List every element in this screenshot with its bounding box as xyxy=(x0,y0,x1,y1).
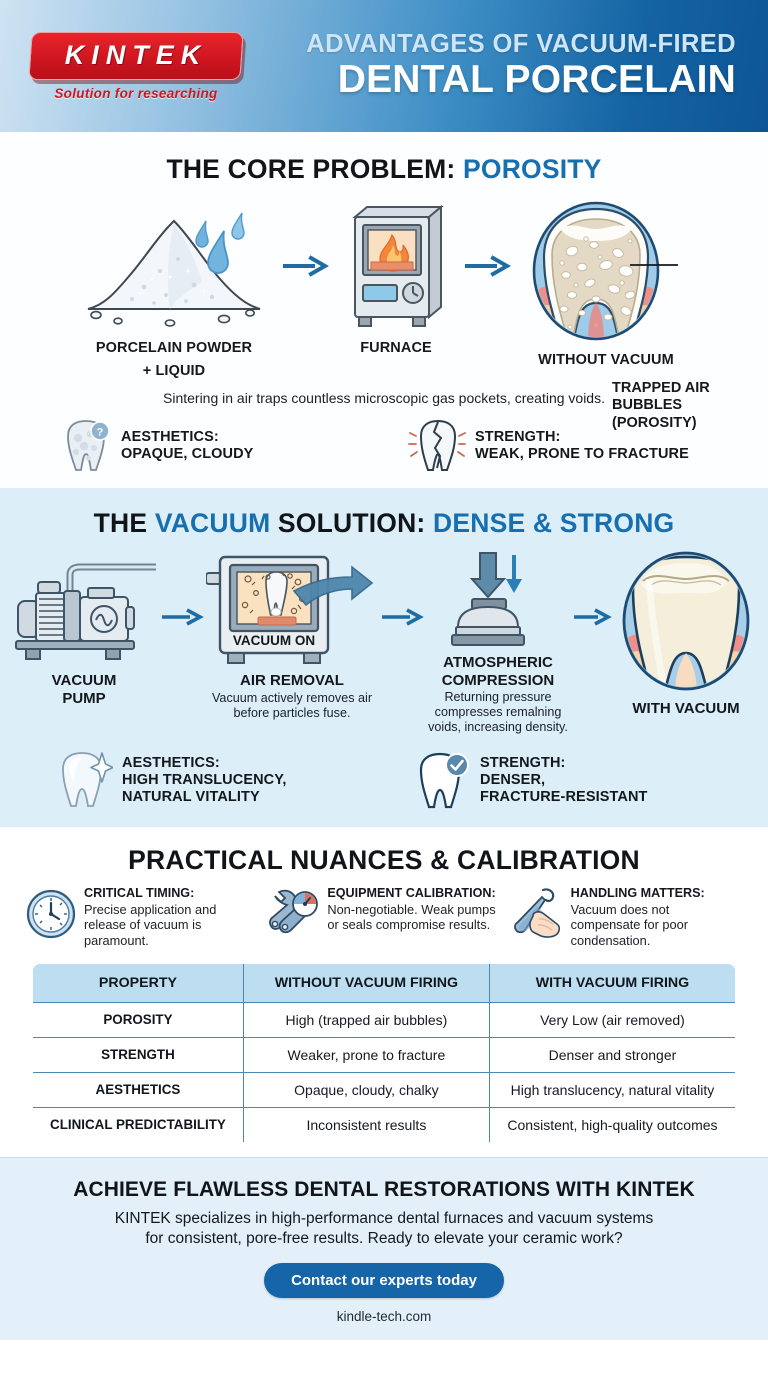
vacuum-title-part3: SOLUTION: xyxy=(270,508,433,538)
benefit-body-2: NATURAL VITALITY xyxy=(122,789,287,806)
vacuum-caption-compression-2: COMPRESSION xyxy=(426,672,570,689)
problem-benefit-strength-text: STRENGTH: WEAK, PRONE TO FRACTURE xyxy=(475,429,689,463)
table-cell-without: Weaker, prone to fracture xyxy=(243,1037,489,1072)
table-cell-without: High (trapped air bubbles) xyxy=(243,1002,489,1037)
table-cell-with: Consistent, high-quality outcomes xyxy=(489,1107,735,1142)
vacuum-flow: VACUUM PUMP xyxy=(0,549,768,735)
table-body: POROSITY High (trapped air bubbles) Very… xyxy=(33,1002,736,1142)
vacuum-title-part2: VACUUM xyxy=(155,508,271,538)
nuance-tile-handling-text: HANDLING MATTERS: Vacuum does not compen… xyxy=(571,886,742,948)
comparison-table-wrap: PROPERTY WITHOUT VACUUM FIRING WITH VACU… xyxy=(0,963,768,1143)
logo-tagline: Solution for researching xyxy=(30,86,242,101)
cta-title: ACHIEVE FLAWLESS DENTAL RESTORATIONS WIT… xyxy=(0,1178,768,1202)
table-row: CLINICAL PREDICTABILITY Inconsistent res… xyxy=(33,1107,736,1142)
vacuum-title-part4: DENSE & STRONG xyxy=(433,508,674,538)
section-core-problem: THE CORE PROBLEM: POROSITY xyxy=(0,132,768,488)
flow-step-furnace: FURNACE xyxy=(331,199,461,357)
nuance-tiles: CRITICAL TIMING: Precise application and… xyxy=(0,886,768,948)
vacuum-sub-compression: Returning pressure compresses remalning … xyxy=(426,690,570,735)
kintek-logo[interactable]: KINTEK Solution for researching xyxy=(30,32,242,101)
vacuum-caption-air-removal: AIR REMOVAL xyxy=(206,672,378,689)
vacuum-caption-with-vacuum: WITH VACUUM xyxy=(614,700,758,717)
porous-tooth-icon xyxy=(526,199,686,351)
table-cell-with: Denser and stronger xyxy=(489,1037,735,1072)
flow-step-powder: PORCELAIN POWDER + LIQUID xyxy=(69,199,279,380)
arrow-furnace-to-tooth xyxy=(463,199,511,282)
vacuum-benefit-strength: STRENGTH: DENSER, FRACTURE-RESISTANT xyxy=(413,749,713,811)
wrench-gauge-icon xyxy=(269,886,319,942)
chamber-label: VACUUM ON xyxy=(233,633,315,648)
infographic-page: KINTEK Solution for researching ADVANTAG… xyxy=(0,0,768,1376)
contact-experts-button[interactable]: Contact our experts today xyxy=(264,1263,504,1298)
flow-step-with-vacuum: WITH VACUUM xyxy=(614,549,758,717)
check-tooth-icon xyxy=(413,749,471,811)
table-cell-with: High translucency, natural vitality xyxy=(489,1072,735,1107)
section-title-problem-plain: THE CORE PROBLEM: xyxy=(166,154,463,184)
tile-head: CRITICAL TIMING: xyxy=(84,886,255,901)
table-cell-without: Inconsistent results xyxy=(243,1107,489,1142)
atmospheric-press-icon xyxy=(438,549,558,649)
table-cell-property: STRENGTH xyxy=(33,1037,244,1072)
benefit-head: AESTHETICS: xyxy=(122,755,287,772)
benefit-head: AESTHETICS: xyxy=(121,429,253,446)
cta-body: KINTEK specializes in high-performance d… xyxy=(0,1209,768,1250)
site-url[interactable]: kindle-tech.com xyxy=(0,1309,768,1324)
flow-step-vacuum-pump: VACUUM PUMP xyxy=(10,549,158,707)
flow-caption-powder: PORCELAIN POWDER xyxy=(69,340,279,357)
section-cta: ACHIEVE FLAWLESS DENTAL RESTORATIONS WIT… xyxy=(0,1158,768,1340)
benefit-body: OPAQUE, CLOUDY xyxy=(121,446,253,463)
cloudy-tooth-icon: ? xyxy=(60,418,112,474)
problem-flow: PORCELAIN POWDER + LIQUID xyxy=(0,199,768,380)
nuance-tile-handling: HANDLING MATTERS: Vacuum does not compen… xyxy=(513,886,742,948)
vacuum-benefits: AESTHETICS: HIGH TRANSLUCENCY, NATURAL V… xyxy=(0,749,768,811)
flow-step-atmospheric-compression: ATMOSPHERIC COMPRESSION Returning pressu… xyxy=(426,549,570,735)
table-header-with-vacuum: WITH VACUUM FIRING xyxy=(489,963,735,1002)
vacuum-caption-pump: VACUUM xyxy=(10,672,158,689)
svg-text:?: ? xyxy=(97,427,104,439)
section-vacuum-solution: THE VACUUM SOLUTION: DENSE & STRONG xyxy=(0,488,768,827)
vacuum-pump-icon xyxy=(10,549,158,667)
callout-line-1: TRAPPED AIR xyxy=(612,380,710,397)
tile-body: Vacuum does not compensate for poor cond… xyxy=(571,902,742,949)
benefit-body-1: HIGH TRANSLUCENCY, xyxy=(122,772,287,789)
table-cell-property: AESTHETICS xyxy=(33,1072,244,1107)
section-title-problem-highlight: POROSITY xyxy=(463,154,602,184)
tile-head: HANDLING MATTERS: xyxy=(571,886,742,901)
table-row: AESTHETICS Opaque, cloudy, chalky High t… xyxy=(33,1072,736,1107)
table-header-row: PROPERTY WITHOUT VACUUM FIRING WITH VACU… xyxy=(33,963,736,1002)
table-head: PROPERTY WITHOUT VACUUM FIRING WITH VACU… xyxy=(33,963,736,1002)
furnace-icon xyxy=(341,199,451,329)
hand-instrument-icon xyxy=(513,886,563,942)
flow-caption-furnace: FURNACE xyxy=(331,340,461,357)
tile-head: EQUIPMENT CALIBRATION: xyxy=(327,886,498,901)
arrow-compression-to-tooth xyxy=(572,549,612,632)
logo-badge: KINTEK xyxy=(28,32,243,80)
table-cell-without: Opaque, cloudy, chalky xyxy=(243,1072,489,1107)
table-row: POROSITY High (trapped air bubbles) Very… xyxy=(33,1002,736,1037)
tile-body: Precise application and release of vacuu… xyxy=(84,902,255,949)
page-title: DENTAL PORCELAIN xyxy=(242,60,736,101)
nuance-tile-timing: CRITICAL TIMING: Precise application and… xyxy=(26,886,255,948)
section-title-vacuum: THE VACUUM SOLUTION: DENSE & STRONG xyxy=(0,508,768,539)
section-title-nuances: PRACTICAL NUANCES & CALIBRATION xyxy=(0,845,768,876)
comparison-table: PROPERTY WITHOUT VACUUM FIRING WITH VACU… xyxy=(32,963,736,1143)
sparkle-tooth-icon xyxy=(55,749,113,811)
logo-text: KINTEK xyxy=(37,40,235,71)
arrow-pump-to-chamber xyxy=(160,549,204,632)
cracked-tooth-icon xyxy=(408,418,466,474)
flow-step-air-removal: VACUUM ON AIR REMOVAL Vacuum actively re… xyxy=(206,549,378,721)
vacuum-chamber-icon: VACUUM ON xyxy=(206,549,378,667)
flow-caption-powder-2: + LIQUID xyxy=(69,363,279,380)
callout-trapped-air: TRAPPED AIR BUBBLES (POROSITY) xyxy=(612,380,710,432)
header-titles: ADVANTAGES OF VACUUM-FIRED DENTAL PORCEL… xyxy=(242,31,742,100)
clock-icon xyxy=(26,886,76,942)
vacuum-caption-pump-2: PUMP xyxy=(10,690,158,707)
vacuum-title-part1: THE xyxy=(94,508,155,538)
header-subtitle: ADVANTAGES OF VACUUM-FIRED xyxy=(242,31,736,58)
cta-body-line1: KINTEK specializes in high-performance d… xyxy=(115,1210,653,1227)
table-cell-with: Very Low (air removed) xyxy=(489,1002,735,1037)
arrow-chamber-to-compression xyxy=(380,549,424,632)
vacuum-caption-compression: ATMOSPHERIC xyxy=(426,654,570,671)
nuance-tile-calibration: EQUIPMENT CALIBRATION: Non-negotiable. W… xyxy=(269,886,498,948)
benefit-body: WEAK, PRONE TO FRACTURE xyxy=(475,446,689,463)
porcelain-powder-icon xyxy=(74,199,274,329)
arrow-powder-to-furnace xyxy=(281,199,329,282)
cta-body-line2: for consistent, pore-free results. Ready… xyxy=(145,1230,622,1247)
problem-benefit-aesthetics-text: AESTHETICS: OPAQUE, CLOUDY xyxy=(121,429,253,463)
nuance-tile-calibration-text: EQUIPMENT CALIBRATION: Non-negotiable. W… xyxy=(327,886,498,948)
callout-line-2: BUBBLES xyxy=(612,397,710,414)
section-practical-nuances: PRACTICAL NUANCES & CALIBRATION xyxy=(0,827,768,1156)
vacuum-sub-air-removal: Vacuum actively removes air before parti… xyxy=(206,691,378,721)
benefit-body-2: FRACTURE-RESISTANT xyxy=(480,789,647,806)
flow-caption-without-vacuum: WITHOUT VACUUM xyxy=(513,352,699,369)
flow-step-without-vacuum: WITHOUT VACUUM xyxy=(513,199,699,369)
table-header-property: PROPERTY xyxy=(33,963,244,1002)
problem-benefit-aesthetics: ? AESTHETICS: OPAQUE, CLOUDY xyxy=(60,418,360,474)
callout-line-3: (POROSITY) xyxy=(612,415,710,432)
table-cell-property: CLINICAL PREDICTABILITY xyxy=(33,1107,244,1142)
vacuum-benefit-aesthetics: AESTHETICS: HIGH TRANSLUCENCY, NATURAL V… xyxy=(55,749,355,811)
section-title-problem: THE CORE PROBLEM: POROSITY xyxy=(0,154,768,185)
table-header-without-vacuum: WITHOUT VACUUM FIRING xyxy=(243,963,489,1002)
dense-tooth-icon xyxy=(615,549,757,697)
vacuum-benefit-aesthetics-text: AESTHETICS: HIGH TRANSLUCENCY, NATURAL V… xyxy=(122,755,287,806)
tile-body: Non-negotiable. Weak pumps or seals comp… xyxy=(327,902,498,933)
benefit-body-1: DENSER, xyxy=(480,772,647,789)
table-cell-property: POROSITY xyxy=(33,1002,244,1037)
table-row: STRENGTH Weaker, prone to fracture Dense… xyxy=(33,1037,736,1072)
vacuum-benefit-strength-text: STRENGTH: DENSER, FRACTURE-RESISTANT xyxy=(480,755,647,806)
page-header: KINTEK Solution for researching ADVANTAG… xyxy=(0,0,768,132)
nuance-tile-timing-text: CRITICAL TIMING: Precise application and… xyxy=(84,886,255,948)
benefit-head: STRENGTH: xyxy=(480,755,647,772)
